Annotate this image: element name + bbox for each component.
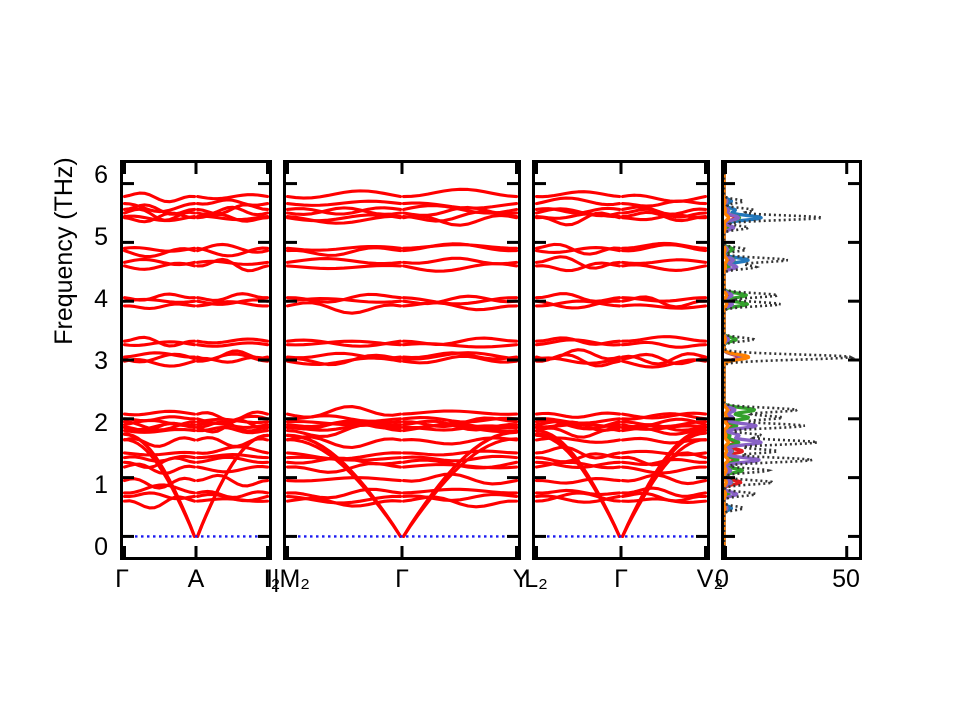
- phonon-figure: Frequency (THz) 6 5 4 3 2 1 0 Γ A I₂ I|M…: [0, 0, 960, 720]
- y-tick-3: 3: [68, 347, 108, 376]
- panel3-tick-gamma: Γ: [599, 565, 643, 594]
- dos-panel: [721, 160, 862, 560]
- y-tick-5: 5: [68, 223, 108, 252]
- panel2-tick-gamma: Γ: [380, 565, 424, 594]
- y-tick-6: 6: [68, 161, 108, 190]
- dos-tick-50: 50: [824, 565, 868, 594]
- y-tick-2: 2: [68, 409, 108, 438]
- y-tick-4: 4: [68, 285, 108, 314]
- panel2-tick-i-m2: I|M₂: [258, 565, 318, 594]
- panel3-tick-l2: L₂: [514, 565, 558, 594]
- y-tick-1: 1: [68, 471, 108, 500]
- band-panel-3: [532, 160, 710, 560]
- band-panel-2: [283, 160, 521, 560]
- y-tick-0: 0: [68, 533, 108, 562]
- panel1-tick-a: A: [174, 565, 218, 594]
- band-panel-1: [120, 160, 272, 560]
- panel1-tick-gamma: Γ: [100, 565, 144, 594]
- dos-tick-0: 0: [706, 565, 738, 594]
